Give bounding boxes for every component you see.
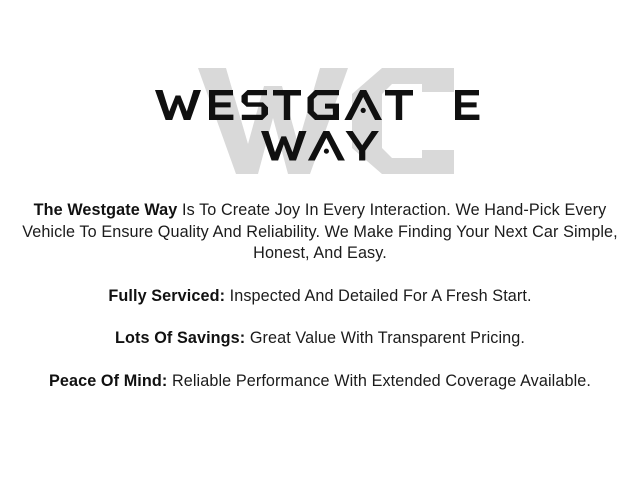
promo-page: The Westgate Way Is To Create Joy In Eve… [0,0,640,480]
intro-lead: The Westgate Way [34,201,178,219]
logo-primary-text [0,88,640,122]
value-prop-lead: Fully Serviced: [108,287,225,305]
value-prop-lots-of-savings: Lots Of Savings: Great Value With Transp… [14,328,626,350]
value-prop-fully-serviced: Fully Serviced: Inspected And Detailed F… [14,286,626,308]
value-prop-lead: Peace Of Mind: [49,372,167,390]
logo-secondary-text [0,130,640,162]
value-prop-peace-of-mind: Peace Of Mind: Reliable Performance With… [14,371,626,393]
dealer-value-props: The Westgate Way Is To Create Joy In Eve… [0,200,640,392]
value-prop-body: Reliable Performance With Extended Cover… [167,372,591,390]
value-prop-body: Great Value With Transparent Pricing. [245,329,525,347]
dealer-logo [0,0,640,190]
value-prop-lead: Lots Of Savings: [115,329,245,347]
value-prop-body: Inspected And Detailed For A Fresh Start… [225,287,532,305]
intro-paragraph: The Westgate Way Is To Create Joy In Eve… [14,200,626,265]
